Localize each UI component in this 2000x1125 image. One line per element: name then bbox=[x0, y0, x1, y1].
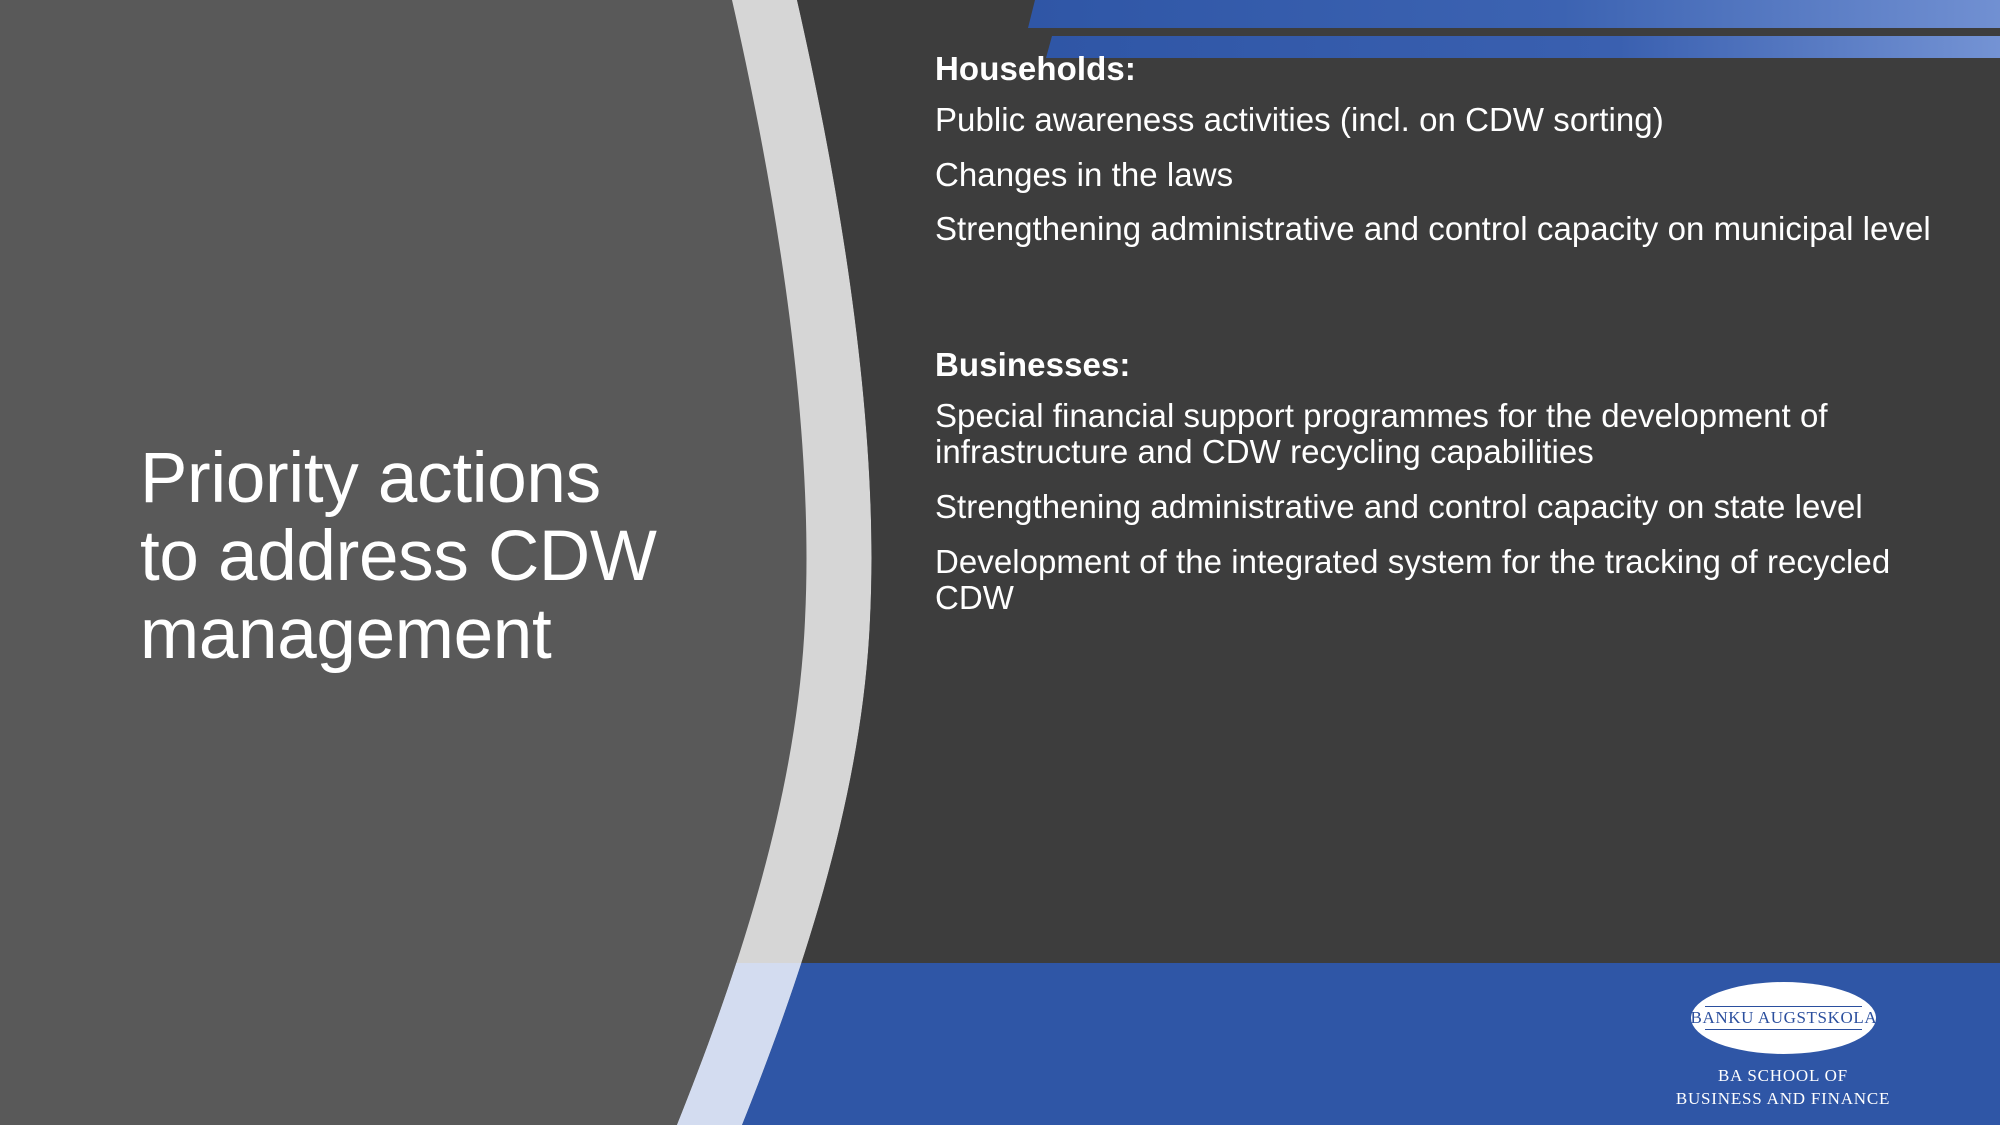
group-businesses: Businesses: Special financial support pr… bbox=[935, 344, 1965, 617]
group-spacer bbox=[935, 248, 1965, 344]
organization-logo: BANKU AUGSTSKOLA BA SCHOOL OF BUSINESS A… bbox=[1618, 982, 1948, 1111]
bullet-item: Strengthening administrative and control… bbox=[935, 211, 1965, 248]
logo-ellipse-text: BANKU AUGSTSKOLA bbox=[1691, 1008, 1876, 1028]
top-accent-stripe-upper bbox=[1028, 0, 2000, 28]
group-households: Households: Public awareness activities … bbox=[935, 48, 1965, 248]
title-block: Priority actions to address CDW manageme… bbox=[140, 440, 740, 674]
bullet-item: Public awareness activities (incl. on CD… bbox=[935, 102, 1965, 139]
logo-rule-bottom bbox=[1705, 1029, 1862, 1030]
bullet-item: Strengthening administrative and control… bbox=[935, 489, 1965, 526]
bullet-item: Changes in the laws bbox=[935, 157, 1965, 194]
logo-subtitle: BA SCHOOL OF BUSINESS AND FINANCE bbox=[1618, 1065, 1948, 1111]
presentation-slide: Priority actions to address CDW manageme… bbox=[0, 0, 2000, 1125]
bullet-item: Special financial support programmes for… bbox=[935, 398, 1965, 471]
logo-ellipse-icon: BANKU AUGSTSKOLA bbox=[1691, 982, 1876, 1054]
group-heading-businesses: Businesses: bbox=[935, 344, 1965, 387]
slide-title: Priority actions to address CDW manageme… bbox=[140, 440, 740, 674]
group-heading-households: Households: bbox=[935, 48, 1965, 91]
logo-rule-top bbox=[1705, 1006, 1862, 1007]
bullet-item: Development of the integrated system for… bbox=[935, 544, 1965, 617]
content-column: Households: Public awareness activities … bbox=[935, 48, 1965, 617]
